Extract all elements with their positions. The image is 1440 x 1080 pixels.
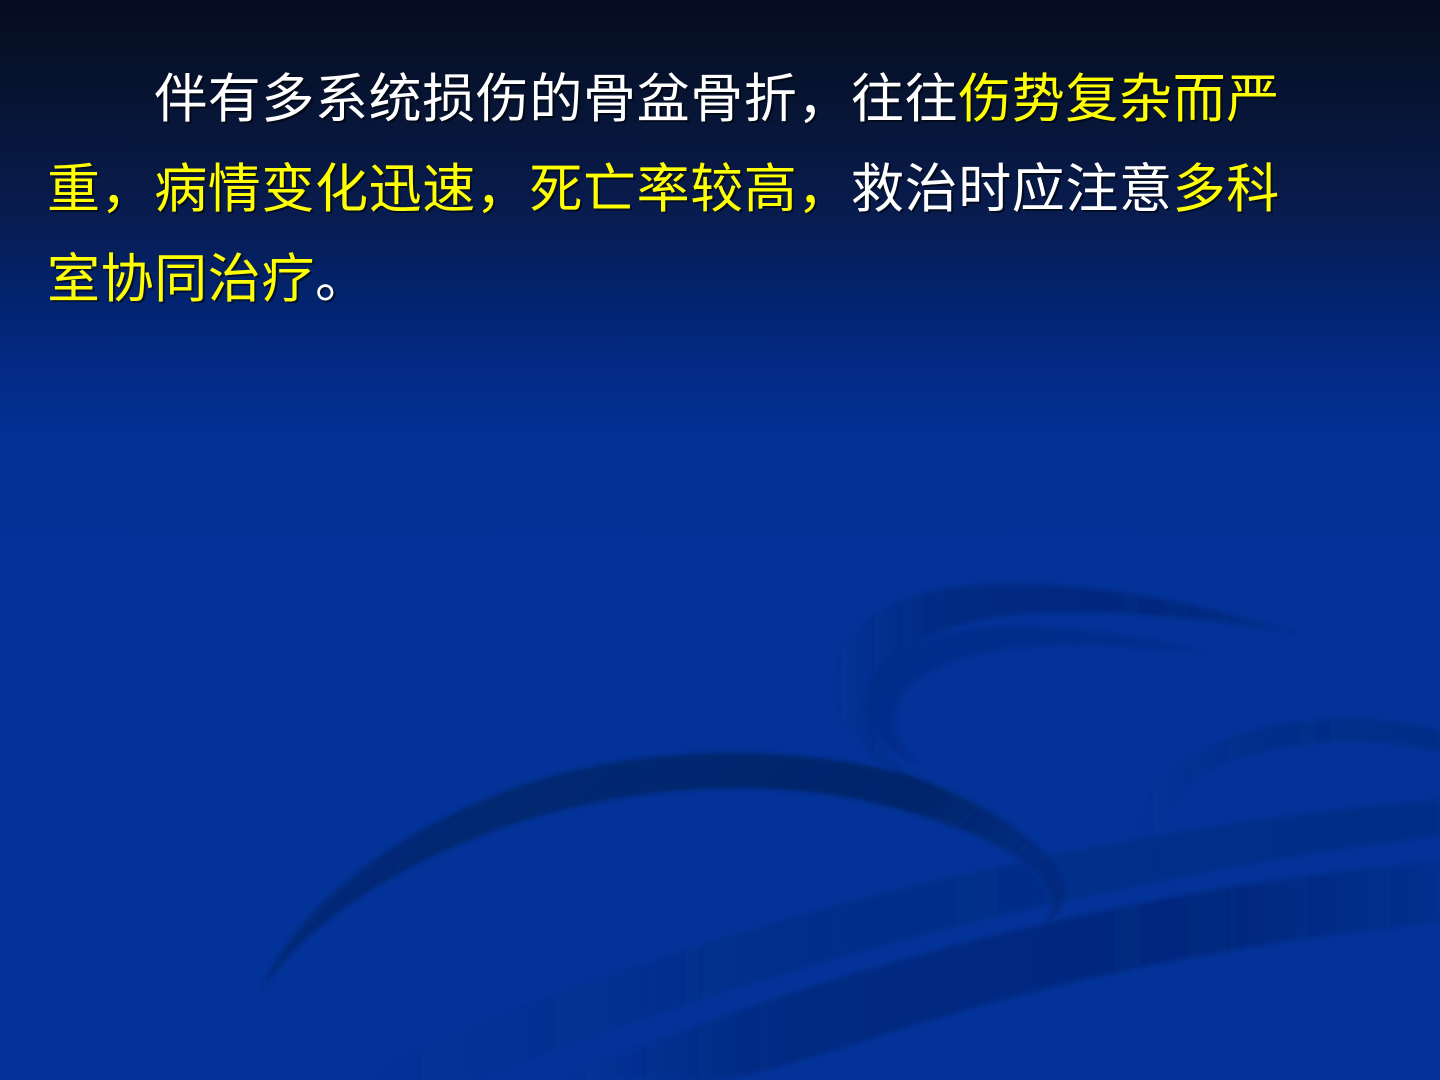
line-2-segment-white: 救治时应注意 [851,159,1173,220]
line-3-segment-yellow: 室协同治疗 [47,249,315,310]
body-line-1: 伴有多系统损伤的骨盆骨折，往往伤势复杂而严 [47,55,1280,145]
line-1-indent [47,69,154,130]
body-line-2: 重，病情变化迅速，死亡率较高，救治时应注意多科 [47,145,1280,235]
line-2-segment-yellow-1: 重，病情变化迅速，死亡率较高， [47,159,851,220]
line-2-segment-yellow-2: 多科 [1173,159,1280,220]
presentation-slide: 伴有多系统损伤的骨盆骨折，往往伤势复杂而严 重，病情变化迅速，死亡率较高，救治时… [0,0,1440,1080]
line-1-segment-yellow: 伤势复杂而严 [958,69,1280,130]
body-line-3: 室协同治疗。 [47,235,369,325]
line-3-segment-period: 。 [315,249,369,310]
line-1-segment-white: 伴有多系统损伤的骨盆骨折，往往 [154,69,958,130]
